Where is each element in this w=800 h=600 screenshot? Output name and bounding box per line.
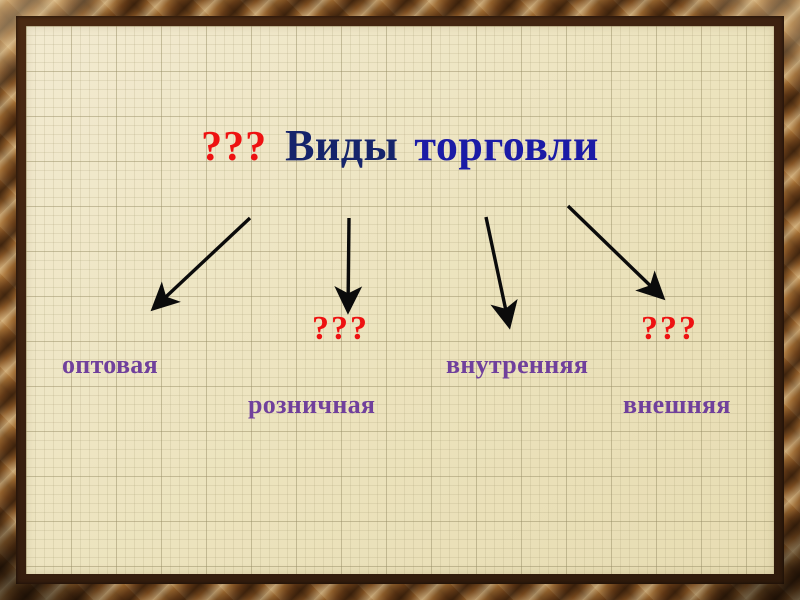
title-unknown-marker: ??? xyxy=(201,124,267,170)
arrow-to-optovaya xyxy=(154,218,250,308)
diagram-arrows xyxy=(26,26,774,574)
branch-label-vneshnyaya: внешняя xyxy=(623,392,731,418)
unknown-marker-right: ??? xyxy=(641,312,698,346)
page-title: ???Видыторговли xyxy=(26,124,774,168)
branch-label-vnutrennyaya: внутренняя xyxy=(446,352,588,378)
arrow-to-roznichnaya xyxy=(348,218,349,310)
graph-paper-surface: ???Видыторговли ??? ??? оптовая рознична… xyxy=(26,26,774,574)
slide-canvas: ???Видыторговли ??? ??? оптовая рознична… xyxy=(0,0,800,600)
unknown-marker-center: ??? xyxy=(312,312,369,346)
arrow-to-vneshnyaya xyxy=(568,206,662,297)
branch-label-optovaya: оптовая xyxy=(62,352,158,378)
branch-label-roznichnaya: розничная xyxy=(248,392,375,418)
title-word-torgovli: торговли xyxy=(414,121,599,170)
title-word-vidy: Виды xyxy=(285,121,398,170)
arrow-to-vnutrennyaya xyxy=(486,217,509,325)
